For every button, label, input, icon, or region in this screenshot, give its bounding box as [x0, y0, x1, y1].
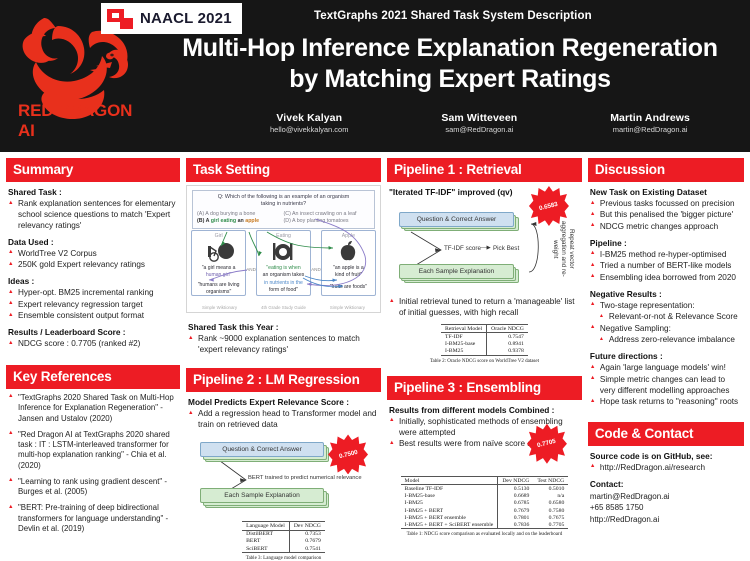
list-item: Ensemble consistent output format	[8, 311, 178, 322]
list-item: Simple metric changes can lead to very d…	[590, 375, 742, 397]
author-entry: Martin Andrews martin@RedDragon.ai	[610, 112, 690, 134]
discussion-group4-list: Again 'large language models' win! Simpl…	[590, 363, 742, 408]
list-item: NDCG metric changes approach	[590, 222, 742, 233]
poster-title-line2: by Matching Expert Ratings	[150, 64, 750, 95]
list-item: Again 'large language models' win!	[590, 363, 742, 374]
table-row: I-BM25 + BERT + SciBERT ensemble 0.7836 …	[401, 521, 569, 529]
discussion-group4-label: Future directions :	[590, 351, 742, 361]
list-item: Ensembling idea borrowed from 2020	[590, 273, 742, 284]
fact-card-girl: Girl "a girl means a human girl" "humans…	[191, 230, 246, 296]
table-row: I-BM25 + BERT 0.7679 0.7580	[401, 507, 569, 514]
fact-card-caption: Girl	[194, 233, 243, 239]
code-contact-title: Code & Contact	[588, 422, 744, 446]
list-item: 250K gold Expert relevancy ratings	[8, 260, 178, 271]
section-pipeline3: Pipeline 3 : Ensembling Results from dif…	[387, 376, 582, 538]
poster-subtitle: TextGraphs 2021 Shared Task System Descr…	[314, 10, 592, 22]
pipeline1-box-bottom-stack: Each Sample Explanation	[399, 264, 514, 279]
task-setting-title: Task Setting	[186, 158, 381, 182]
table-header: Language Model	[242, 522, 289, 530]
figure-question-line2: taking in nutrients?	[197, 201, 370, 208]
fact-card-source: Simple Wiktionary	[319, 305, 376, 310]
discussion-group2-label: Pipeline :	[590, 238, 742, 248]
pipeline1-title: Pipeline 1 : Retrieval	[387, 158, 582, 182]
pipeline2-heading: Model Predicts Expert Relevance Score :	[188, 397, 379, 407]
author-email: martin@RedDragon.ai	[610, 125, 690, 134]
table-header: Test NDCG	[533, 477, 568, 485]
contact-phone: +65 8585 1750	[590, 502, 742, 514]
pipeline3-heading: Results from different models Combined :	[389, 405, 580, 415]
list-item: Rank ~9000 explanation sentences to matc…	[188, 334, 379, 356]
summary-results-label: Results / Leaderboard Score :	[8, 327, 178, 337]
list-item: WorldTree V2 Corpus	[8, 249, 178, 260]
figure-option-a: (A) A dog burying a bone	[197, 211, 283, 218]
pipeline1-bullets: Initial retrieval tuned to return a 'man…	[389, 297, 580, 319]
discussion-title: Discussion	[588, 158, 744, 182]
author-email: hello@vivekkalyan.com	[270, 125, 348, 134]
list-item: Two-stage representation:	[590, 301, 742, 312]
list-item: Previous tasks focussed on precision	[590, 199, 742, 210]
table-row: BERT 0.7679	[242, 538, 325, 545]
fact-card-eating: Eating "eating is when an organism takes…	[256, 230, 311, 296]
list-item: Initial retrieval tuned to return a 'man…	[389, 297, 580, 319]
code-contact-source-list: http://RedDragon.ai/research	[590, 463, 742, 474]
figure-option-c: (C) An insect crawling on a leaf	[283, 211, 369, 218]
pipeline2-box-bottom-stack: Each Sample Explanation	[200, 488, 324, 503]
author-name: Vivek Kalyan	[270, 112, 348, 124]
fact-card-facts: "eating is when an organism takes in nut…	[259, 265, 308, 295]
pipeline3-table: Model Dev NDCG Test NDCG Baseline TF-IDF…	[401, 476, 569, 529]
column-discussion: Discussion New Task on Existing Dataset …	[588, 158, 744, 532]
column-pipelines: Pipeline 1 : Retrieval "Iterated TF-IDF"…	[387, 158, 582, 532]
list-item: Hyper-opt. BM25 incremental ranking	[8, 288, 178, 299]
author-name: Sam Witteveen	[441, 112, 517, 124]
section-task-setting: Task Setting Q: Which of the	[186, 158, 381, 356]
pipeline1-box-bottom: Each Sample Explanation	[399, 264, 514, 279]
table-header: Dev NDCG	[498, 477, 534, 485]
author-entry: Sam Witteveen sam@RedDragon.ai	[441, 112, 517, 134]
list-item: "Learning to rank using gradient descent…	[8, 477, 178, 498]
list-item: NDCG score : 0.7705 (ranked #2)	[8, 339, 178, 350]
pipeline1-mid-right: Pick Best	[493, 245, 519, 252]
shared-task-year-label: Shared Task this Year :	[188, 322, 379, 332]
poster-title: Multi-Hop Inference Explanation Regenera…	[150, 33, 750, 95]
author-list: Vivek Kalyan hello@vivekkalyan.com Sam W…	[270, 112, 690, 134]
fact-card-facts: "a girl means a human girl" "humans are …	[194, 265, 243, 297]
key-references-list: "TextGraphs 2020 Shared Task on Multi-Ho…	[8, 393, 178, 535]
pipeline3-score-badge: 0.7705	[527, 424, 567, 464]
discussion-group1-list: Previous tasks focussed on precision But…	[590, 199, 742, 233]
pipeline2-title: Pipeline 2 : LM Regression	[186, 368, 381, 392]
pipeline2-box-top-stack: Question & Correct Answer	[200, 442, 324, 457]
naacl-logo-icon	[107, 9, 133, 29]
list-item: Hope task returns to "reasoning" roots	[590, 397, 742, 408]
pipeline1-table: Retrieval Model Oracle NDCG TF-IDF 0.754…	[441, 324, 528, 356]
figure-option-b: (B) A girl eating an apple	[197, 218, 283, 225]
summary-ideas-label: Ideas :	[8, 276, 178, 286]
pipeline2-mid-text: BERT trained to predict numerical releva…	[248, 475, 362, 481]
list-item: Relevant-or-not & Relevance Score	[590, 312, 742, 323]
naacl-badge: NAACL 2021	[101, 3, 242, 34]
table-row: TF-IDF 0.7547	[441, 333, 528, 341]
poster-body: Summary Shared Task : Rank explanation s…	[0, 152, 750, 532]
table-row: SciBERT 0.7541	[242, 545, 325, 553]
discussion-group2-list: I-BM25 method re-hyper-optimised Tried a…	[590, 250, 742, 284]
list-item: "BERT: Pre-training of deep bidirectiona…	[8, 503, 178, 534]
list-item: "Red Dragon AI at TextGraphs 2020 shared…	[8, 430, 178, 472]
and-label: AND	[311, 267, 321, 272]
discussion-group1-label: New Task on Existing Dataset	[590, 187, 742, 197]
poster-title-line1: Multi-Hop Inference Explanation Regenera…	[150, 33, 750, 64]
author-email: sam@RedDragon.ai	[441, 125, 517, 134]
pipeline2-flow-diagram: Question & Correct Answer BERT trained t…	[188, 436, 379, 516]
list-item: Tried a number of BERT-like models	[590, 261, 742, 272]
and-label: AND	[246, 267, 256, 272]
summary-ideas-list: Hyper-opt. BM25 incremental ranking Expe…	[8, 288, 178, 322]
column-task-setting: Task Setting Q: Which of the	[186, 158, 381, 532]
summary-data-used-list: WorldTree V2 Corpus 250K gold Expert rel…	[8, 249, 178, 271]
code-contact-source-label: Source code is on GitHub, see:	[590, 451, 742, 461]
apple-icon	[324, 240, 373, 263]
section-pipeline1: Pipeline 1 : Retrieval "Iterated TF-IDF"…	[387, 158, 582, 364]
figure-question-line1: Q: Which of the following is an example …	[197, 194, 370, 201]
pipeline3-title: Pipeline 3 : Ensembling	[387, 376, 582, 400]
girl-icon	[194, 240, 243, 263]
summary-results-list: NDCG score : 0.7705 (ranked #2)	[8, 339, 178, 350]
discussion-group3-label: Negative Results :	[590, 289, 742, 299]
pipeline2-score-badge: 0.7500	[328, 434, 368, 474]
list-item: But this penalised the 'bigger picture'	[590, 210, 742, 221]
org-name: RED DRAGON AI	[18, 101, 146, 141]
pipeline1-flow-diagram: Question & Correct Answer TF-IDF score —…	[389, 202, 580, 294]
section-summary: Summary Shared Task : Rank explanation s…	[6, 158, 180, 351]
figure-option-d: (D) A boy planting tomatoes	[283, 218, 369, 225]
fact-card-source: 4th Grade Study Guide	[255, 305, 312, 310]
table-row: Baseline TF-IDF 0.5130 0.5010	[401, 485, 569, 493]
summary-shared-task-list: Rank explanation sentences for elementar…	[8, 199, 178, 232]
pipeline1-box-top-stack: Question & Correct Answer	[399, 212, 514, 227]
table-row: I-BM25 0.6785 0.6580	[401, 500, 569, 507]
section-pipeline2: Pipeline 2 : LM Regression Model Predict…	[186, 368, 381, 561]
task-setting-figure: Q: Which of the following is an example …	[186, 185, 381, 313]
code-contact-contact-label: Contact:	[590, 479, 742, 489]
source-code-link[interactable]: http://RedDragon.ai/research	[590, 463, 742, 474]
column-left: Summary Shared Task : Rank explanation s…	[6, 158, 180, 532]
figure-sources: Simple Wiktionary 4th Grade Study Guide …	[191, 305, 376, 310]
summary-title: Summary	[6, 158, 180, 182]
list-item: Negative Sampling:	[590, 324, 742, 335]
shared-task-year-list: Rank ~9000 explanation sentences to matc…	[188, 334, 379, 356]
figure-question-box: Q: Which of the following is an example …	[192, 190, 375, 229]
list-item: Add a regression head to Transformer mod…	[188, 409, 379, 431]
pipeline2-box-top: Question & Correct Answer	[200, 442, 324, 457]
section-discussion: Discussion New Task on Existing Dataset …	[588, 158, 744, 409]
pipeline2-box-bottom: Each Sample Explanation	[200, 488, 324, 503]
table-row: I-BM25-base 0.6689 n/a	[401, 493, 569, 500]
pipeline1-score-badge: 0.6583	[529, 186, 569, 226]
key-references-title: Key References	[6, 365, 180, 389]
list-item: "TextGraphs 2020 Shared Task on Multi-Ho…	[8, 393, 178, 424]
list-item: Expert relevancy regression target	[8, 300, 178, 311]
fact-card-caption: Apple	[324, 233, 373, 239]
pipeline3-table-caption: Table 1: NDCG score comparison as evalua…	[389, 532, 580, 537]
list-item: Address zero-relevance imbalance	[590, 335, 742, 346]
section-code-contact: Code & Contact Source code is on GitHub,…	[588, 422, 744, 526]
eating-icon	[259, 240, 308, 263]
fact-card-facts: "an apple is a kind of fruit" "fruits ar…	[324, 265, 373, 291]
table-header: Retrieval Model	[441, 324, 487, 332]
summary-shared-task-label: Shared Task :	[8, 187, 178, 197]
contact-website[interactable]: http://RedDragon.ai	[590, 514, 742, 526]
author-entry: Vivek Kalyan hello@vivekkalyan.com	[270, 112, 348, 134]
table-row: I-BM25 + BERT ensemble 0.7801 0.7675	[401, 514, 569, 521]
fact-card-caption: Eating	[259, 233, 308, 239]
pipeline2-bullets: Add a regression head to Transformer mod…	[188, 409, 379, 431]
figure-fact-cards: Girl "a girl means a human girl" "humans…	[191, 230, 376, 296]
table-row: DistilBERT 0.7353	[242, 530, 325, 538]
table-header: Dev NDCG	[289, 522, 325, 530]
list-item: I-BM25 method re-hyper-optimised	[590, 250, 742, 261]
table-header: Oracle NDCG	[487, 324, 528, 332]
poster-header: RED DRAGON AI NAACL 2021 TextGraphs 2021…	[0, 0, 750, 152]
list-item: Rank explanation sentences for elementar…	[8, 199, 178, 232]
author-name: Martin Andrews	[610, 112, 690, 124]
pipeline1-table-caption: Table 2: Oracle NDCG score on WorldTree …	[389, 359, 580, 364]
table-header: Model	[401, 477, 498, 485]
pipeline2-table-caption: Table 3: Language model comparison	[188, 556, 379, 561]
figure-options: (A) A dog burying a bone (B) A girl eati…	[197, 211, 370, 226]
table-row: I-BM25-base 0.8941	[441, 340, 528, 347]
pipeline1-box-top: Question & Correct Answer	[399, 212, 514, 227]
fact-card-apple: Apple "an apple is a kind of fruit" "fru…	[321, 230, 376, 296]
section-key-references: Key References "TextGraphs 2020 Shared T…	[6, 365, 180, 540]
naacl-badge-label: NAACL 2021	[140, 10, 232, 27]
pipeline2-table: Language Model Dev NDCG DistilBERT 0.735…	[242, 521, 325, 553]
discussion-group3-list: Two-stage representation: Relevant-or-no…	[590, 301, 742, 346]
fact-card-source: Simple Wiktionary	[191, 305, 248, 310]
pipeline1-mid-left: TF-IDF score	[444, 245, 481, 252]
summary-data-used-label: Data Used :	[8, 237, 178, 247]
pipeline1-mid-arrow: —▶	[481, 245, 491, 251]
table-row: I-BM25 0.9378	[441, 348, 528, 356]
contact-email[interactable]: martin@RedDragon.ai	[590, 491, 742, 503]
